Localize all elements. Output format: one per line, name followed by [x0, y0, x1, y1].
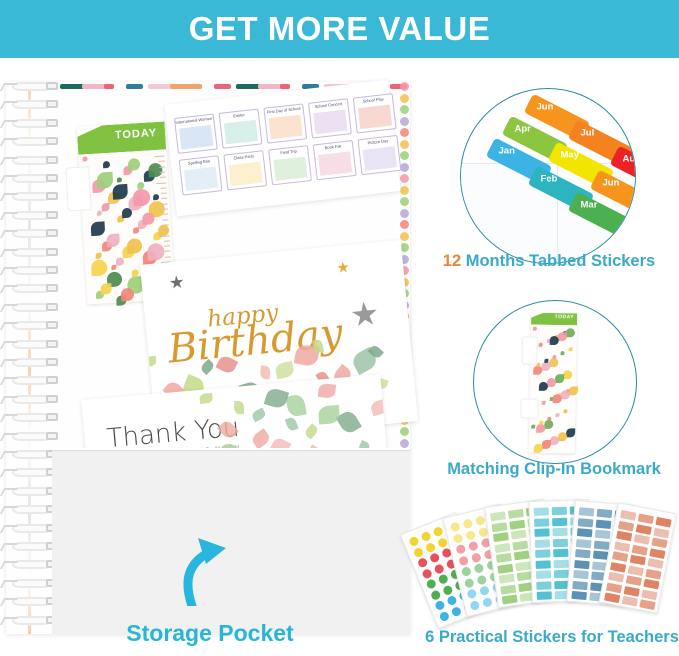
- sticker-cell: School Concert: [308, 98, 352, 138]
- bookmark-today-label: TODAY: [115, 127, 158, 142]
- month-tab-label: Jun: [537, 102, 554, 113]
- feature-circle-bookmark: TODAY: [473, 300, 637, 464]
- month-tab-label: Aug: [623, 154, 636, 165]
- sticker-cell: Picture Day: [358, 135, 402, 175]
- month-tab-label: Apr: [515, 124, 531, 135]
- feature-sticker-sheets-fan: [432, 498, 672, 622]
- month-tab-stickers: JanAprJunFebMayJulMarJunAug: [461, 89, 635, 263]
- feature-circle-months-tabs: JanAprJunFebMayJulMarJunAug: [460, 88, 636, 264]
- bookmark-art-today-label: TODAY: [555, 314, 575, 320]
- caption-stickers-text: Practical Stickers for Teachers: [434, 628, 679, 646]
- caption-stickers-number: 6: [425, 628, 434, 646]
- header-banner: GET MORE VALUE: [0, 0, 679, 58]
- bookmark-art: TODAY: [529, 313, 577, 454]
- sticker-cell: Book Fair: [313, 140, 357, 180]
- caption-bookmark: Matching Clip-In Bookmark: [434, 460, 674, 479]
- caption-practical-stickers: 6 Practical Stickers for Teachers: [424, 628, 679, 647]
- sticker-cell: Field Trip: [268, 145, 312, 185]
- star-sticker: [169, 275, 184, 290]
- sticker-cell: Easter: [219, 108, 263, 148]
- caption-bookmark-text: Matching Clip-In Bookmark: [447, 460, 661, 478]
- page-title: GET MORE VALUE: [0, 0, 679, 58]
- storage-pocket-label: Storage Pocket: [0, 620, 420, 647]
- bookmark-clip: [65, 166, 92, 211]
- sticker-cell: First Day of School: [263, 103, 307, 143]
- bookmark-art-clip-lower: [520, 398, 538, 418]
- sticker-cell: School Play: [353, 93, 397, 133]
- month-tab-label: Mar: [581, 200, 598, 211]
- caption-months-text: Months Tabbed Stickers: [461, 252, 655, 270]
- caption-months-number: 12: [443, 252, 461, 270]
- month-tab-label: Jul: [581, 128, 595, 139]
- month-tab-label: Jan: [499, 146, 515, 157]
- month-tab-label: Jun: [603, 178, 620, 189]
- sticker-cell: Spelling Bee: [179, 155, 223, 195]
- bookmark-art-body: [529, 313, 577, 454]
- sticker-cell: International Women's Day: [174, 114, 218, 154]
- storage-pocket-arrow-icon: [170, 528, 240, 606]
- month-tab-label: May: [561, 150, 579, 161]
- bookmark-art-clip-upper: [521, 336, 537, 364]
- sticker-cell: Class Party: [223, 150, 267, 190]
- star-sticker: [337, 261, 350, 274]
- product-feature-image: GET MORE VALUE International Women's Day…: [0, 0, 679, 656]
- month-tab-label: Feb: [541, 174, 558, 185]
- caption-months-tabs: 12 Months Tabbed Stickers: [434, 252, 664, 271]
